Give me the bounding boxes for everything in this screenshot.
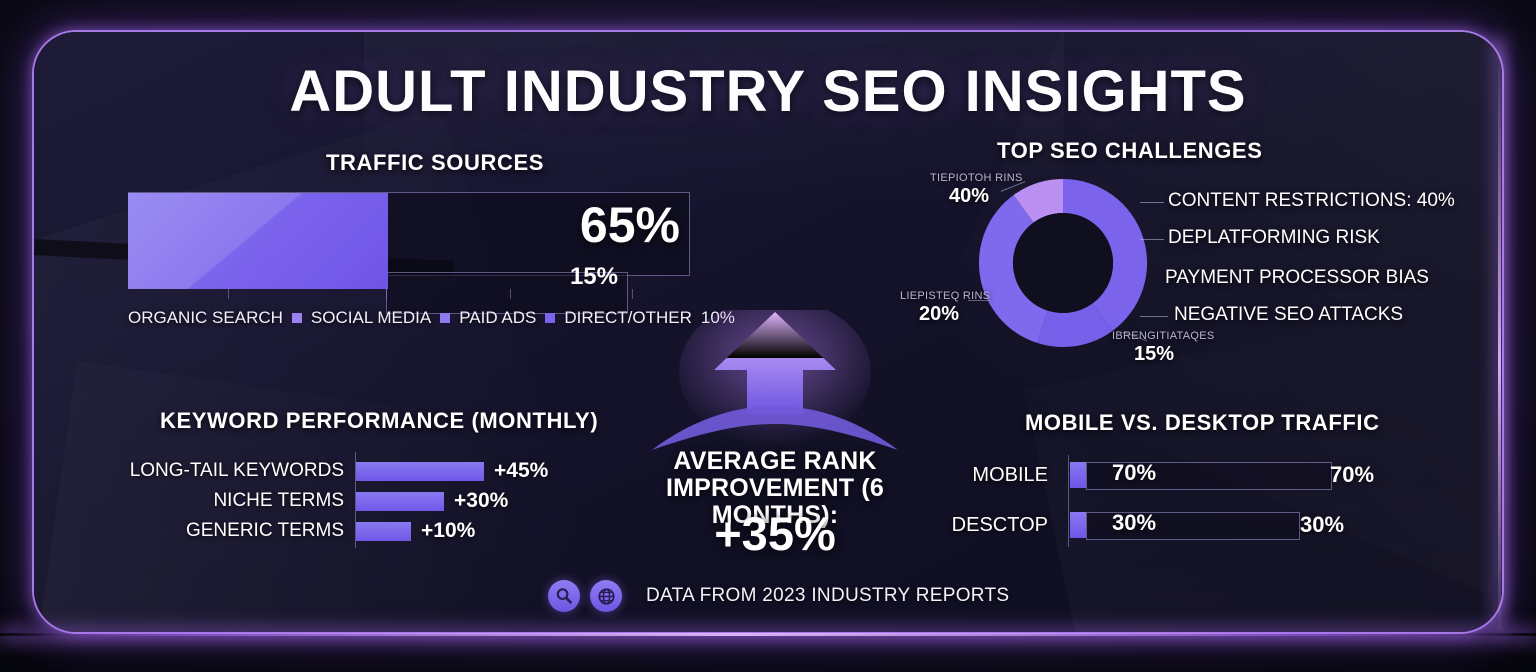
page-title: ADULT INDUSTRY SEO INSIGHTS [0, 58, 1536, 125]
callout-deplatforming-risk: DEPLATFORMING RISK [1168, 227, 1380, 249]
footer-bar: DATA FROM 2023 INDUSTRY REPORTS [548, 580, 1009, 612]
traffic-legend-item: ORGANIC SEARCH [128, 308, 283, 328]
device-right-value: 30% [1300, 510, 1344, 540]
traffic-sources-title: TRAFFIC SOURCES [326, 150, 544, 176]
device-label: MOBILE [900, 460, 1048, 490]
keyword-bar [356, 492, 444, 511]
donut-label-bottom: IBRENGITIATAQES 15% [1112, 330, 1196, 365]
bar-highlight [128, 193, 388, 289]
legend-swatch [440, 313, 450, 323]
device-inner-value: 30% [1112, 510, 1156, 536]
traffic-value-65: 65% [560, 196, 680, 254]
leader-line [1140, 316, 1168, 317]
traffic-legend-item: SOCIAL MEDIA [311, 308, 431, 328]
globe-icon [590, 580, 622, 612]
traffic-legend-item: PAID ADS [459, 308, 536, 328]
seo-challenges-title: TOP SEO CHALLENGES [997, 138, 1262, 164]
leader-line [1140, 202, 1164, 203]
traffic-legend: ORGANIC SEARCHSOCIAL MEDIAPAID ADSDIRECT… [128, 307, 698, 329]
search-icon [548, 580, 580, 612]
donut-label-top-left: TIEPIOTOH RINS 40% [930, 172, 1008, 207]
device-row: DESCTOP30%30% [0, 510, 1536, 540]
traffic-value-15: 15% [500, 263, 618, 291]
infographic-canvas: ADULT INDUSTRY SEO INSIGHTS TRAFFIC SOUR… [0, 0, 1536, 672]
donut-hole [1013, 213, 1113, 313]
footer-source-text: DATA FROM 2023 INDUSTRY REPORTS [646, 585, 1009, 607]
device-bar-stub [1070, 462, 1086, 488]
legend-swatch [292, 313, 302, 323]
traffic-axis-ticks [128, 289, 688, 299]
donut-label-left: LIEPISTEQ RINS 20% [900, 290, 978, 325]
callout-content-restrictions: CONTENT RESTRICTIONS: 40% [1168, 190, 1455, 212]
leader-line [1140, 239, 1164, 240]
traffic-bar-organic-search [128, 193, 388, 289]
device-right-value: 70% [1330, 460, 1374, 490]
device-label: DESCTOP [900, 510, 1048, 540]
keyword-performance-title: KEYWORD PERFORMANCE (MONTHLY) [160, 408, 598, 434]
callout-payment-processor-bias: PAYMENT PROCESSOR BIAS [1165, 267, 1429, 289]
device-bar-stub [1070, 512, 1086, 538]
device-inner-value: 70% [1112, 460, 1156, 486]
growth-arrow-graphic [640, 310, 910, 460]
legend-swatch [545, 313, 555, 323]
device-row: MOBILE70%70% [0, 460, 1536, 490]
callout-negative-seo-attacks: NEGATIVE SEO ATTACKS [1174, 304, 1403, 326]
frame-edge-glow-bottom [0, 633, 1536, 636]
device-traffic-title: MOBILE VS. DESKTOP TRAFFIC [1025, 410, 1380, 436]
